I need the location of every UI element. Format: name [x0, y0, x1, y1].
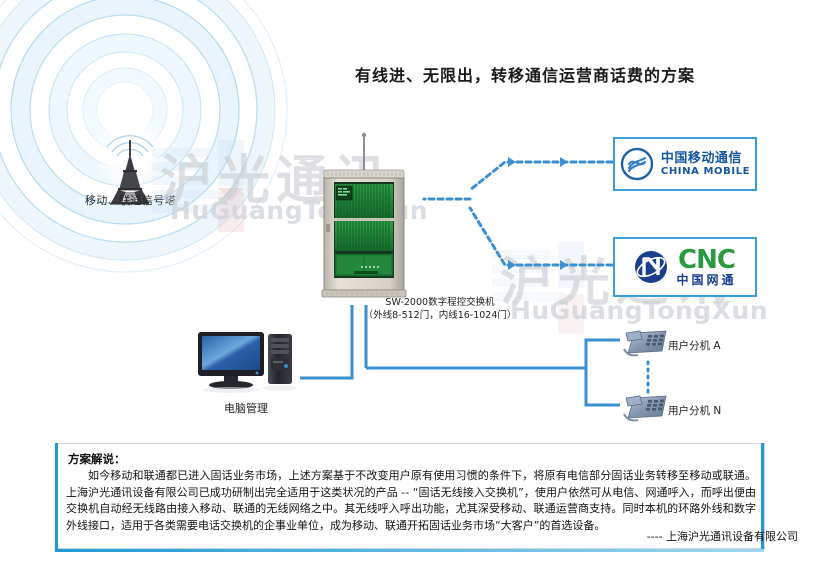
diagram-canvas: 移动、联通信号塔 [0, 0, 820, 580]
desk-phone-icon [618, 327, 670, 361]
operator-china-netcom[interactable]: CNC 中国网通 [613, 237, 757, 297]
pbx-capacity: （外线8-512门，内线16-1024门） [340, 309, 540, 322]
pbx-cabinet-icon [318, 168, 410, 303]
computer-label: 电脑管理 [186, 400, 306, 416]
pbx-model: SW-2000数字程控交换机 [340, 296, 540, 309]
panel-accent-left [55, 443, 58, 549]
panel-accent-bottom [55, 549, 764, 552]
extension-phone-a [618, 327, 670, 361]
panel-heading: 方案解说： [68, 451, 126, 467]
desk-phone-icon [618, 392, 670, 426]
china-mobile-logo [620, 147, 654, 181]
operator-china-mobile[interactable]: 中国移动通信 CHINA MOBILE [613, 137, 757, 191]
extension-a-label: 用户分机 A [668, 338, 721, 353]
extension-phone-n [618, 392, 670, 426]
panel-body: 如今移动和联通都已进入固话业务市场，上述方案基于不改变用户原有使用习惯的条件下，… [66, 468, 756, 534]
operator-name-en: CNC [676, 247, 736, 273]
panel-paragraph: 如今移动和联通都已进入固话业务市场，上述方案基于不改变用户原有使用习惯的条件下，… [66, 468, 756, 534]
cnc-logo [633, 249, 669, 285]
panel-signature: ---- 上海沪光通讯设备有限公司 [647, 528, 798, 544]
operator-name-en: CHINA MOBILE [661, 166, 750, 178]
desktop-computer-icon [196, 330, 296, 398]
extension-n-label: 用户分机 N [668, 403, 721, 418]
operator-name-cn: 中国移动通信 [661, 151, 750, 166]
pbx-caption: SW-2000数字程控交换机 （外线8-512门，内线16-1024门） [340, 296, 540, 322]
operator-name-cn: 中国网通 [676, 273, 736, 287]
